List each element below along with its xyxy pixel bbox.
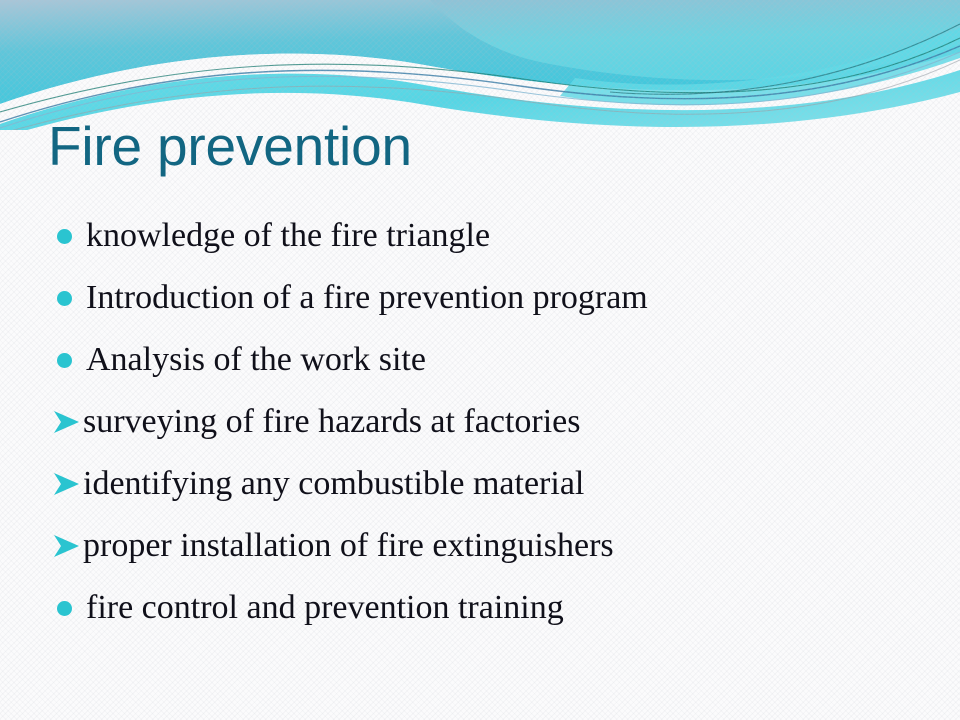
- list-item-label: proper installation of fire extinguisher…: [83, 515, 614, 577]
- list-item-label: identifying any combustible material: [83, 453, 584, 515]
- list-item-label: surveying of fire hazards at factories: [83, 391, 581, 453]
- arrow-bullet-icon: [52, 453, 86, 515]
- dot-bullet-icon: [52, 267, 86, 329]
- list-item-label: Analysis of the work site: [86, 329, 426, 391]
- dot-bullet-icon: [52, 577, 86, 639]
- list-item: proper installation of fire extinguisher…: [52, 515, 932, 577]
- title-placeholder: Fire prevention: [48, 118, 908, 176]
- arrow-bullet-icon: [52, 391, 86, 453]
- list-item-label: fire control and prevention training: [86, 577, 564, 639]
- list-item: fire control and prevention training: [52, 577, 932, 639]
- arrow-bullet-icon: [52, 515, 86, 577]
- dot-bullet-icon: [52, 205, 86, 267]
- list-item: knowledge of the fire triangle: [52, 205, 932, 267]
- dot-bullet-icon: [52, 329, 86, 391]
- header-wave-graphic: [0, 0, 960, 130]
- content-placeholder: knowledge of the fire triangle Introduct…: [52, 205, 932, 639]
- list-item-label: knowledge of the fire triangle: [86, 205, 490, 267]
- bullet-list: knowledge of the fire triangle Introduct…: [52, 205, 932, 639]
- list-item: Analysis of the work site: [52, 329, 932, 391]
- list-item: surveying of fire hazards at factories: [52, 391, 932, 453]
- list-item-label: Introduction of a fire prevention progra…: [86, 267, 648, 329]
- list-item: Introduction of a fire prevention progra…: [52, 267, 932, 329]
- list-item: identifying any combustible material: [52, 453, 932, 515]
- page-title: Fire prevention: [48, 118, 908, 176]
- presentation-slide: Fire prevention knowledge of the fire tr…: [0, 0, 960, 720]
